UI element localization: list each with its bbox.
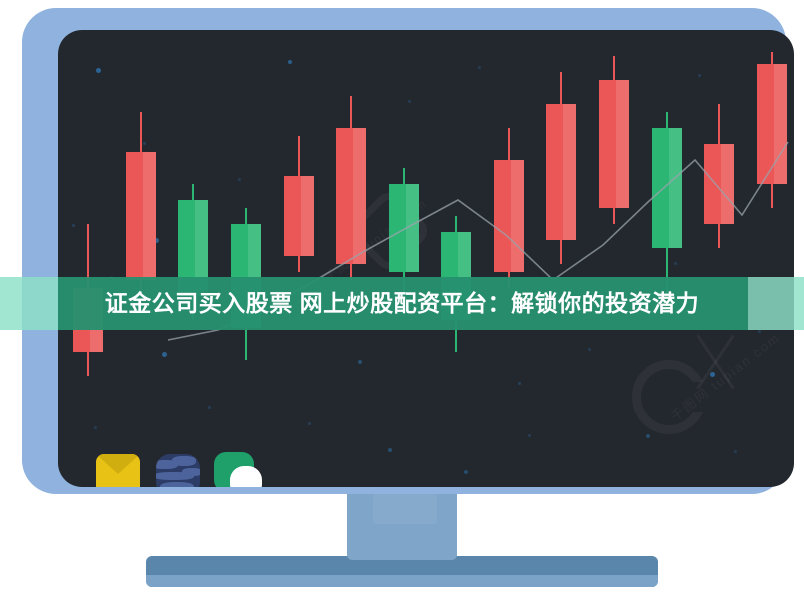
candle-body-highlight bbox=[511, 160, 524, 272]
candle-body-highlight bbox=[353, 128, 366, 264]
monitor-stand-base-lip bbox=[146, 575, 658, 587]
candle-body-highlight bbox=[669, 128, 682, 248]
globe-land-e bbox=[182, 468, 200, 476]
star-dot bbox=[408, 100, 411, 103]
globe-icon[interactable] bbox=[156, 454, 200, 487]
candle-body-highlight bbox=[143, 152, 156, 280]
globe-land-b bbox=[172, 456, 196, 466]
candle-body-highlight bbox=[406, 184, 419, 272]
star-dot bbox=[698, 74, 701, 77]
mail-flap-shape bbox=[96, 454, 140, 474]
star-dot bbox=[478, 66, 481, 69]
mail-icon[interactable] bbox=[96, 454, 140, 487]
star-dot bbox=[734, 450, 737, 453]
monitor-stand-neck bbox=[347, 494, 457, 560]
star-dot bbox=[308, 422, 311, 425]
candle-body-highlight bbox=[721, 144, 734, 224]
promo-banner-title: 证金公司买入股票 网上炒股配资平台：解锁你的投资潜力 bbox=[0, 277, 804, 330]
star-dot bbox=[143, 142, 146, 145]
star-dot bbox=[518, 382, 521, 385]
screen-content: 千图网 tupian.com 千图网 tupian.com bbox=[58, 30, 794, 487]
monitor-screen: 千图网 tupian.com 千图网 tupian.com bbox=[58, 30, 794, 487]
monitor-stand-neck-highlight bbox=[373, 494, 437, 524]
candle-body-highlight bbox=[301, 176, 314, 256]
star-dot bbox=[162, 352, 167, 357]
globe-land-d bbox=[160, 482, 194, 487]
star-dot bbox=[674, 262, 677, 265]
candle-body-highlight bbox=[616, 80, 629, 208]
star-dot bbox=[464, 470, 468, 474]
star-dot bbox=[288, 60, 292, 64]
star-dot bbox=[588, 348, 591, 351]
star-dot bbox=[238, 178, 241, 181]
screenshot-stage: 千图网 tupian.com 千图网 tupian.com bbox=[0, 0, 804, 604]
star-dot bbox=[208, 406, 211, 409]
candle-body-highlight bbox=[563, 104, 576, 240]
star-dot bbox=[758, 330, 761, 333]
candle-body-highlight bbox=[774, 64, 787, 184]
star-dot bbox=[646, 434, 650, 438]
star-dot bbox=[358, 360, 362, 364]
star-dot bbox=[388, 448, 392, 452]
star-dot bbox=[94, 426, 97, 429]
messages-bubble-icon bbox=[230, 466, 262, 487]
star-dot bbox=[96, 68, 101, 73]
monitor-frame: 千图网 tupian.com 千图网 tupian.com bbox=[22, 8, 786, 494]
star-dot bbox=[528, 434, 531, 437]
star-dot bbox=[72, 224, 75, 227]
